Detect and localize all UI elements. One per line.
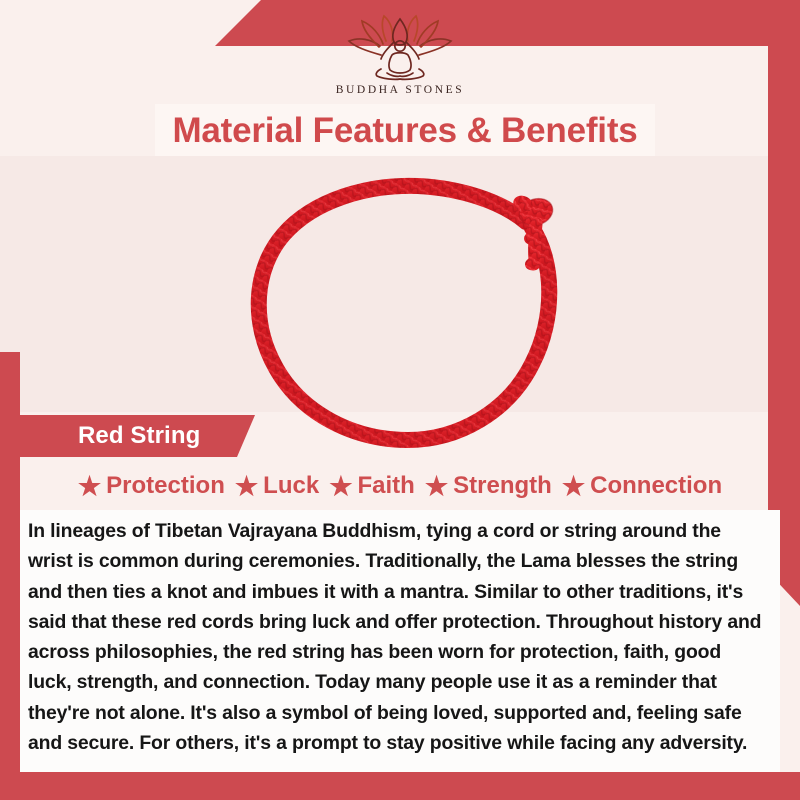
benefit-item-connection: ★ Connection bbox=[562, 472, 722, 500]
star-icon: ★ bbox=[562, 473, 585, 499]
star-icon: ★ bbox=[78, 473, 101, 499]
decor-left-red-strip bbox=[0, 352, 20, 800]
section-ribbon-red-string: Red String bbox=[20, 415, 255, 457]
lotus-meditation-figure-icon bbox=[337, 11, 463, 83]
benefit-label: Faith bbox=[358, 472, 415, 500]
benefit-label: Connection bbox=[590, 472, 722, 500]
infographic-page: BUDDHA STONES Material Features & Benefi… bbox=[0, 0, 800, 800]
ribbon-label: Red String bbox=[78, 422, 200, 450]
description-panel: In lineages of Tibetan Vajrayana Buddhis… bbox=[20, 510, 780, 772]
decor-bottom-red-band bbox=[0, 772, 800, 800]
page-title-plate: Material Features & Benefits bbox=[155, 104, 655, 156]
benefit-label: Luck bbox=[263, 472, 319, 500]
brand-logo: BUDDHA STONES bbox=[336, 11, 464, 96]
description-paragraph: In lineages of Tibetan Vajrayana Buddhis… bbox=[28, 516, 768, 758]
star-icon: ★ bbox=[235, 473, 258, 499]
benefit-item-faith: ★ Faith bbox=[329, 472, 415, 500]
benefit-item-luck: ★ Luck bbox=[235, 472, 319, 500]
page-title: Material Features & Benefits bbox=[172, 113, 637, 148]
brand-header: BUDDHA STONES bbox=[0, 0, 800, 104]
benefits-list: ★ Protection ★ Luck ★ Faith ★ Strength ★… bbox=[0, 462, 800, 510]
benefit-item-strength: ★ Strength bbox=[425, 472, 552, 500]
benefit-label: Protection bbox=[106, 472, 225, 500]
hero-band bbox=[0, 156, 800, 412]
star-icon: ★ bbox=[329, 473, 352, 499]
benefit-item-protection: ★ Protection bbox=[78, 472, 225, 500]
star-icon: ★ bbox=[425, 473, 448, 499]
brand-name: BUDDHA STONES bbox=[336, 84, 464, 96]
benefit-label: Strength bbox=[453, 472, 552, 500]
